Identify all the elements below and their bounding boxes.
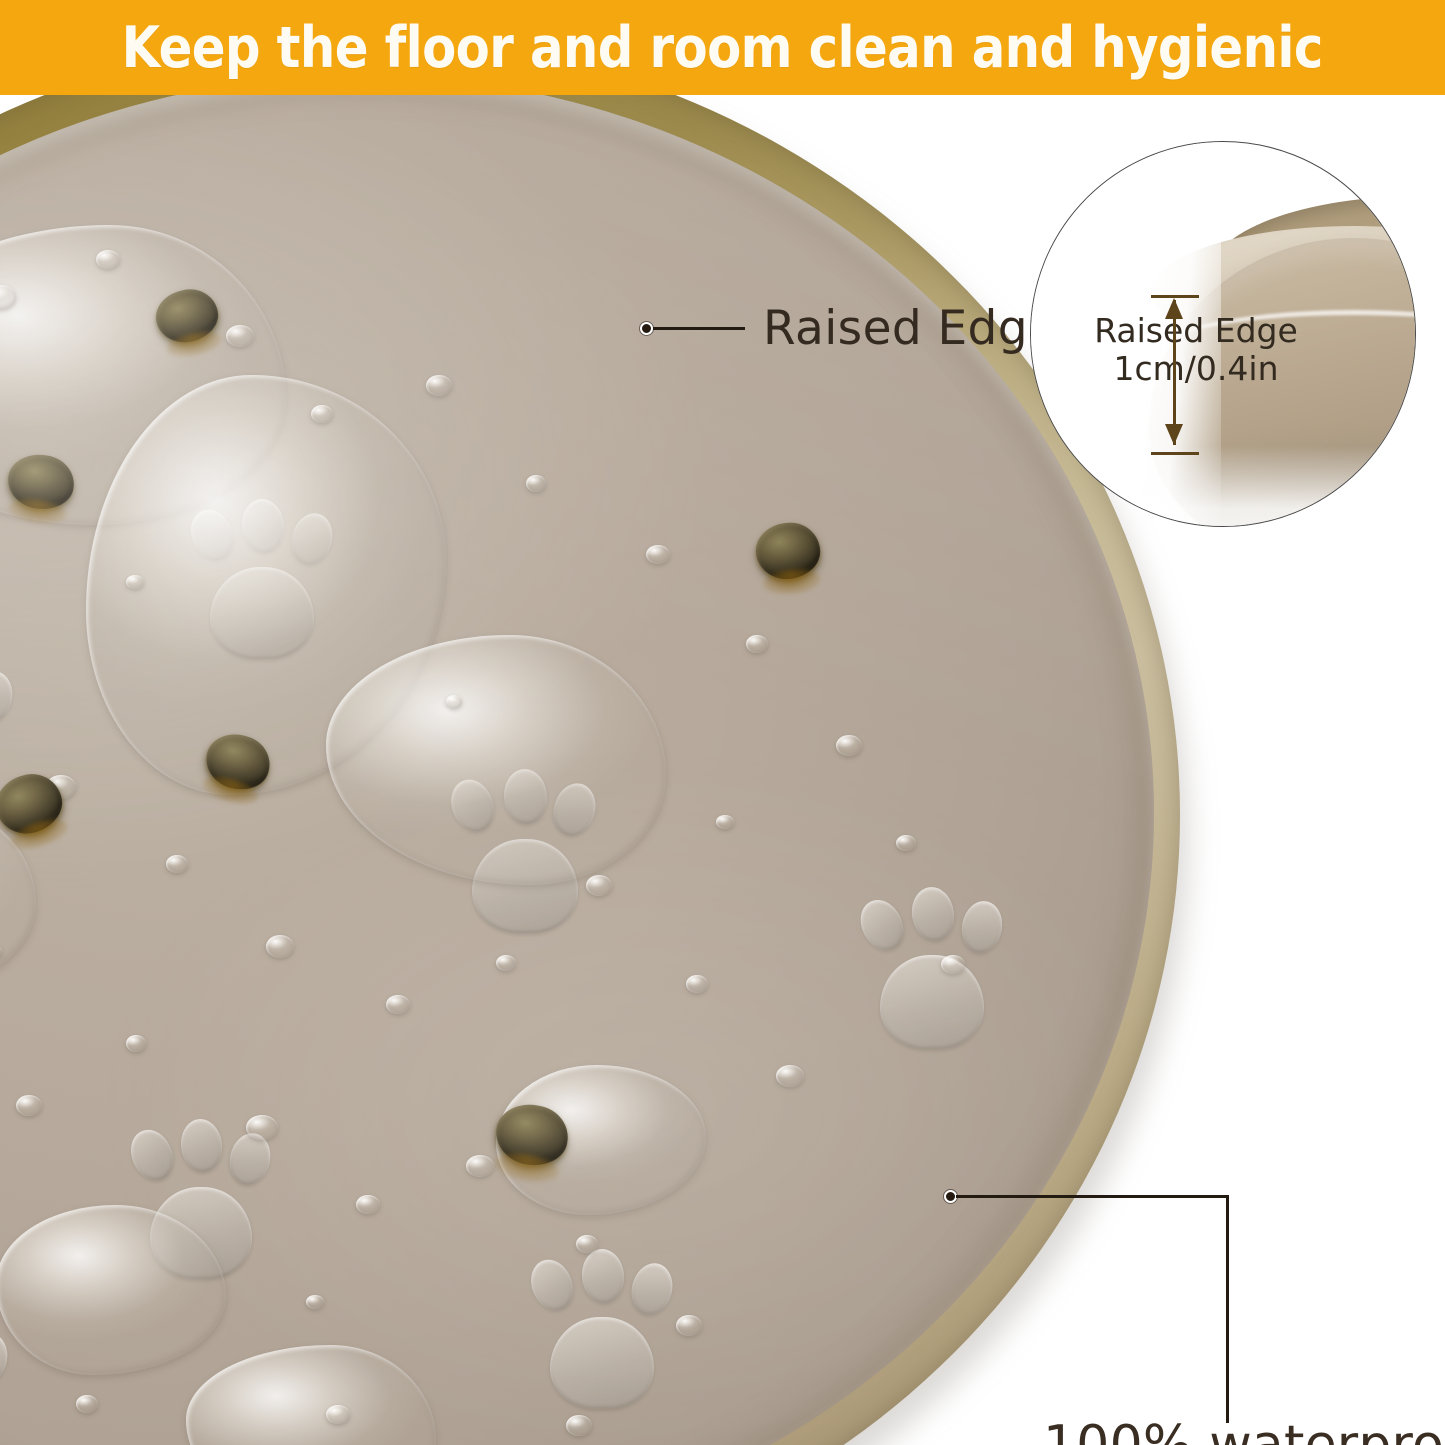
- paw-print: [526, 1255, 676, 1420]
- arrow-up-icon: [1165, 298, 1183, 319]
- water-droplet: [226, 325, 254, 347]
- paw-print: [0, 1325, 12, 1445]
- callout-raised-edge: Raised Edge: [640, 301, 1057, 356]
- leader-line-horizontal: [956, 1195, 1228, 1198]
- leader-line: [653, 327, 745, 330]
- banner-headline: Keep the floor and room clean and hygien…: [122, 15, 1323, 81]
- header-banner: Keep the floor and room clean and hygien…: [0, 0, 1445, 95]
- water-droplet: [496, 955, 516, 971]
- water-droplet: [716, 815, 734, 829]
- dimension-cap-bottom: [1151, 452, 1199, 455]
- water-droplet: [676, 1315, 702, 1336]
- water-droplet: [776, 1065, 804, 1087]
- water-droplet: [166, 855, 188, 873]
- water-droplet: [266, 935, 294, 958]
- water-droplet: [466, 1155, 494, 1177]
- inset-title: Raised Edge: [1053, 312, 1339, 350]
- inset-white-fade-bottom: [1030, 446, 1416, 527]
- paw-print: [856, 895, 1006, 1061]
- water-droplet: [76, 1395, 98, 1413]
- water-droplet: [566, 1415, 592, 1436]
- mat-inner-surface: [0, 95, 1154, 1445]
- water-droplet: [126, 1035, 146, 1052]
- water-droplet: [896, 835, 916, 851]
- water-droplet: [586, 875, 612, 896]
- water-droplet: [126, 575, 144, 589]
- water-droplet: [96, 250, 120, 269]
- water-droplet: [326, 1405, 350, 1424]
- detail-inset-circle: Raised Edge 1cm/0.4in: [1030, 141, 1416, 527]
- water-droplet: [246, 1115, 278, 1140]
- water-droplet: [306, 1295, 324, 1309]
- water-droplet: [446, 695, 462, 708]
- leader-dot-icon: [640, 322, 653, 335]
- water-droplet: [686, 975, 708, 993]
- water-droplet: [836, 735, 862, 756]
- water-droplet: [16, 1095, 42, 1116]
- inset-measurement: 1cm/0.4in: [1053, 350, 1339, 388]
- water-puddle: [186, 1345, 436, 1445]
- pet-feeding-mat: [0, 95, 1180, 1445]
- water-droplet: [426, 375, 452, 396]
- water-puddle: [326, 635, 666, 885]
- water-droplet: [646, 545, 670, 564]
- leader-line-vertical: [1226, 1195, 1229, 1423]
- water-droplet: [941, 955, 965, 974]
- water-puddle: [0, 1205, 226, 1375]
- inset-text-block: Raised Edge 1cm/0.4in: [1053, 312, 1339, 387]
- water-droplet: [576, 1235, 598, 1253]
- water-droplet: [386, 995, 410, 1014]
- kibble-piece: [753, 520, 823, 582]
- water-droplet: [526, 475, 546, 492]
- water-droplet: [311, 405, 333, 423]
- arrow-down-icon: [1165, 424, 1183, 445]
- product-photo-stage: Raised Edge 100% waterproof Raised Edge …: [0, 95, 1445, 1445]
- callout-waterproof-label: 100% waterproof: [1043, 1415, 1445, 1445]
- callout-raised-edge-label: Raised Edge: [763, 301, 1057, 356]
- water-droplet: [356, 1195, 380, 1214]
- water-droplet: [746, 635, 768, 653]
